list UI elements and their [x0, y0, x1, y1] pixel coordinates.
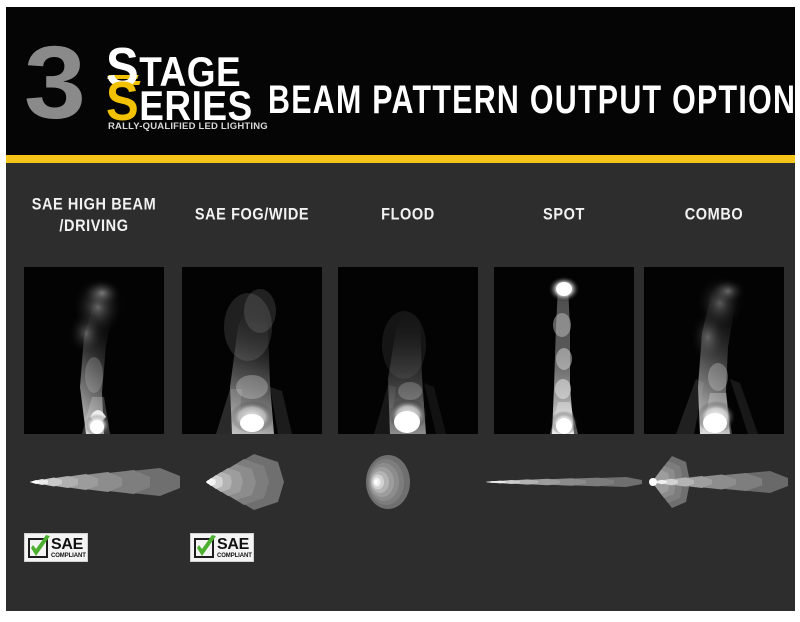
beam-diagram-spot: [478, 451, 650, 513]
beam-diagram-flood: [322, 451, 494, 513]
column-label-sae-high-beam-driving: SAE HIGH BEAM /DRIVING: [10, 195, 178, 238]
beam-column-spot: SPOT: [490, 163, 638, 611]
beam-pattern-poster: 3 STAGE SERIES RALLY-QUALIFIED LED LIGHT…: [6, 7, 795, 611]
beam-photo-flood: [338, 267, 478, 434]
stage-series-logo: 3 STAGE SERIES RALLY-QUALIFIED LED LIGHT…: [24, 33, 256, 133]
beam-diagram-combo: [628, 451, 795, 513]
column-label-line1: SAE FOG/WIDE: [168, 205, 336, 226]
column-label-line1: SAE HIGH BEAM: [10, 195, 178, 216]
badge-subtitle: COMPLIANT: [217, 553, 252, 559]
beam-photo-sae-high-beam-driving: [24, 267, 164, 434]
badge-text: SAE COMPLIANT: [51, 537, 86, 559]
yellow-divider: [6, 155, 795, 163]
beam-columns: SAE HIGH BEAM /DRIVING: [6, 163, 795, 611]
beam-photo-sae-fog-wide: [182, 267, 322, 434]
column-label-line2: /DRIVING: [10, 216, 178, 237]
beam-column-combo: COMBO: [640, 163, 788, 611]
badge-title: SAE: [217, 537, 252, 553]
column-label-sae-fog-wide: SAE FOG/WIDE: [168, 205, 336, 226]
poster-header: 3 STAGE SERIES RALLY-QUALIFIED LED LIGHT…: [6, 7, 795, 155]
logo-tagline: RALLY-QUALIFIED LED LIGHTING: [108, 121, 268, 132]
checkmark-icon: [194, 538, 214, 558]
column-label-combo: COMBO: [630, 205, 795, 226]
column-label-line1: COMBO: [630, 205, 795, 226]
column-label-line1: FLOOD: [324, 205, 492, 226]
sae-compliant-badge-fog-wide: SAE COMPLIANT: [190, 533, 254, 562]
beam-photo-spot: [494, 267, 634, 434]
beam-diagram-sae-fog-wide: [166, 451, 338, 513]
beam-column-sae-fog-wide: SAE FOG/WIDE: [178, 163, 326, 611]
column-label-spot: SPOT: [480, 205, 648, 226]
beam-column-sae-high-beam-driving: SAE HIGH BEAM /DRIVING: [20, 163, 168, 611]
logo-numeral-3: 3: [24, 33, 79, 133]
badge-text: SAE COMPLIANT: [217, 537, 252, 559]
page-title: BEAM PATTERN OUTPUT OPTIONS: [268, 79, 795, 119]
beam-photo-combo: [644, 267, 784, 434]
badge-subtitle: COMPLIANT: [51, 553, 86, 559]
sae-compliant-badge-high-beam: SAE COMPLIANT: [24, 533, 88, 562]
column-label-flood: FLOOD: [324, 205, 492, 226]
beam-diagram-sae-high-beam-driving: [8, 451, 180, 513]
badge-title: SAE: [51, 537, 86, 553]
beam-column-flood: FLOOD: [334, 163, 482, 611]
column-label-line1: SPOT: [480, 205, 648, 226]
checkmark-icon: [28, 538, 48, 558]
